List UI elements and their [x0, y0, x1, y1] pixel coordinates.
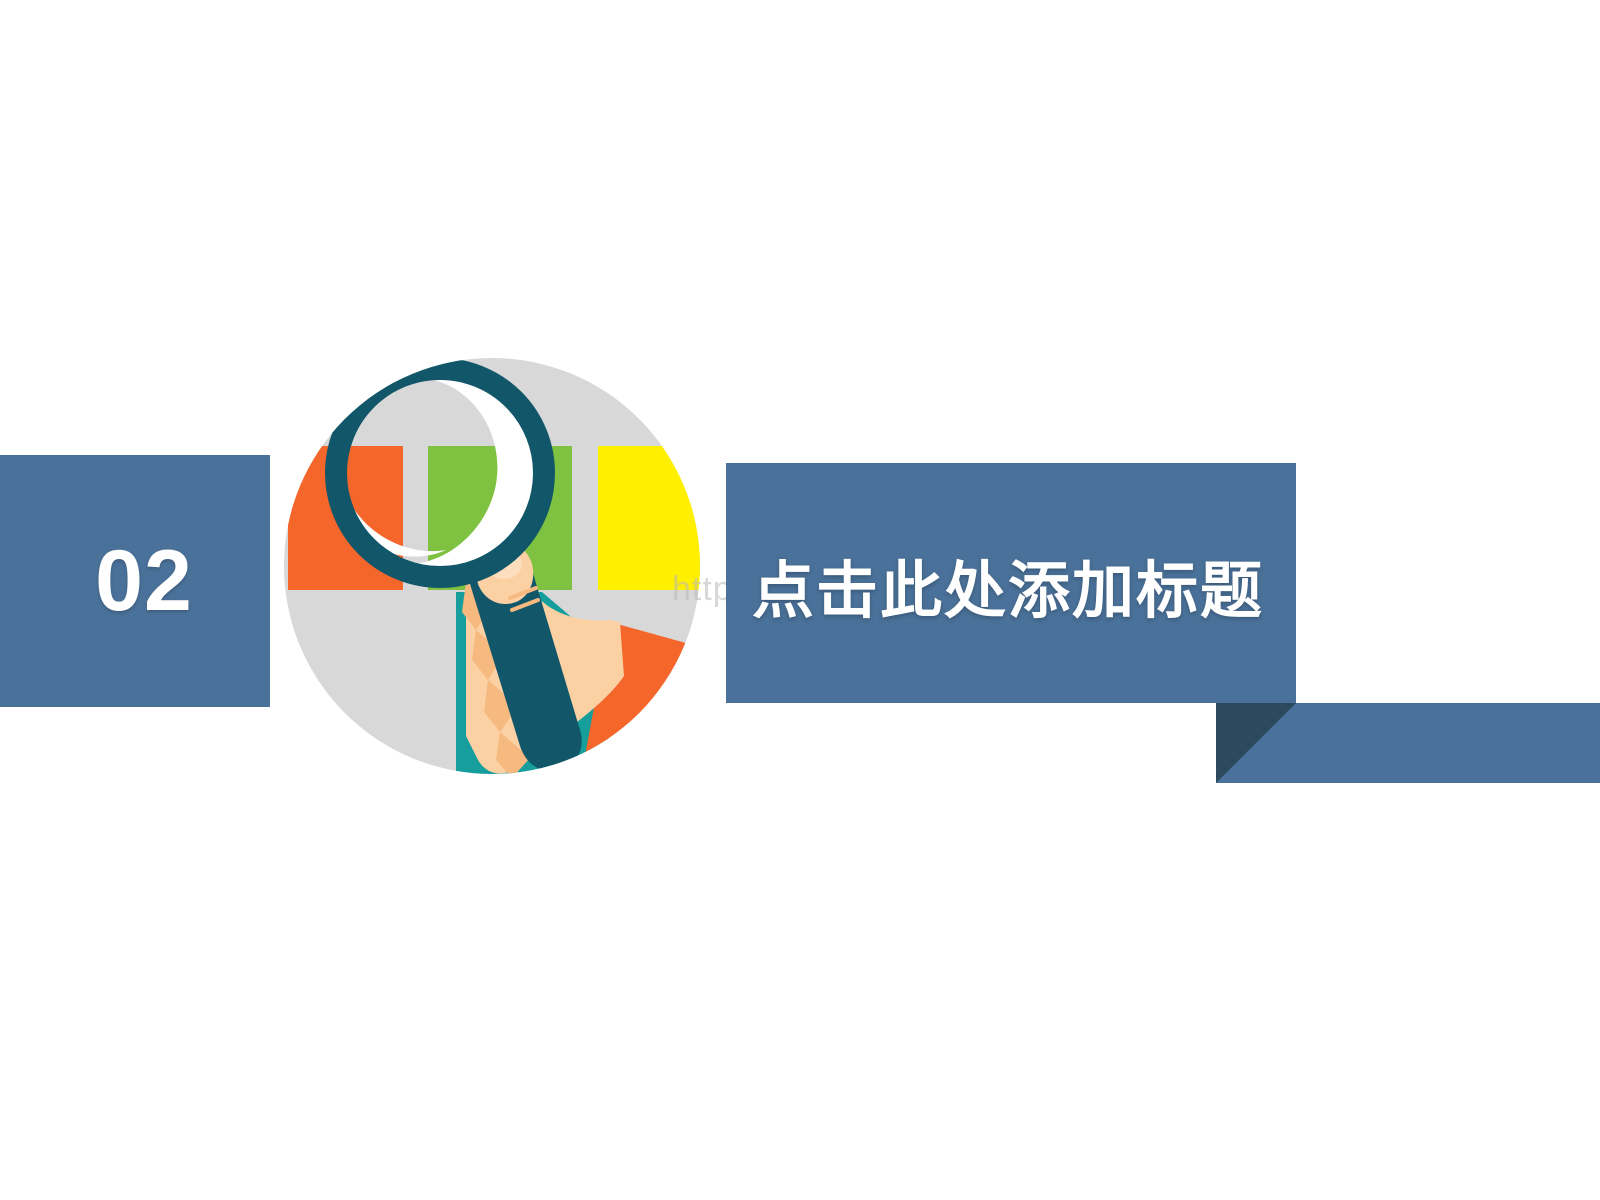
yellow-swatch [598, 446, 710, 590]
section-number-label: 02 [77, 538, 193, 624]
slide-title: 点击此处添加标题 [752, 540, 1282, 630]
title-ribbon-fold-triangle [1216, 703, 1296, 783]
magnifying-glass-analysis-illustration [280, 330, 710, 790]
slide-canvas: 02 [0, 0, 1600, 1200]
section-number-badge[interactable]: 02 [0, 455, 270, 707]
